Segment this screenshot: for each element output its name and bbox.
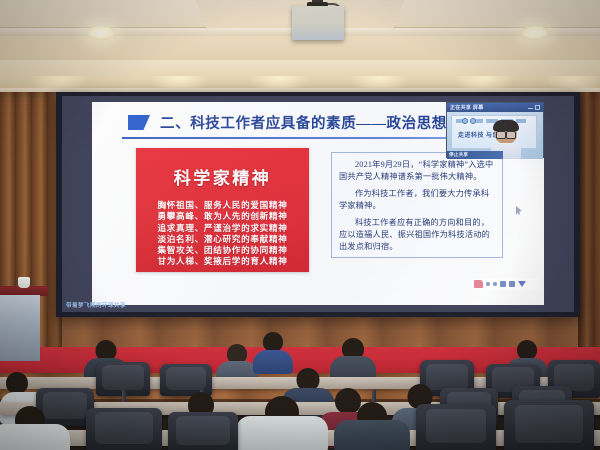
minimize-icon[interactable] [528,106,533,109]
poster-line: 淡泊名利、潜心研究的奉献精神 [136,234,309,245]
person-head [6,372,28,394]
person-torso [0,424,70,450]
ceiling-panel-right [393,0,600,28]
person-torso [236,416,328,450]
eraser-icon[interactable] [509,281,515,287]
chair [416,404,496,450]
presentation-slide: 二、科技工作者应具备的素质——政治思想素养 科学家精神 胸怀祖国、服务人民的爱国… [92,102,544,305]
video-conference-overlay[interactable]: 正在共享 屏幕 走进科技 与您同行 [446,102,544,158]
glasses-icon [496,131,516,137]
audience-person [330,338,376,382]
audience-person [0,406,70,450]
textbox-paragraph: 科技工作者应有正确的方向和目的，应以造福人民、振兴祖国作为科技活动的出发点和归宿… [339,217,495,252]
wood-panel-right [578,92,600,360]
projection-screen: 二、科技工作者应具备的素质——政治思想素养 科学家精神 胸怀祖国、服务人民的爱国… [62,96,574,312]
stop-share-label: 停止共享 [449,152,468,158]
poster-line-list: 胸怀祖国、服务人民的爱国精神 勇攀高峰、敢为人先的创新精神 追求真理、严谨治学的… [136,200,309,268]
window-controls[interactable] [528,105,540,110]
screen-watermark: 带着梦飞翔的环球共享 [66,301,126,309]
restore-icon[interactable] [535,105,540,110]
coffee-cup-icon [18,277,30,288]
video-overlay-titlebar[interactable]: 正在共享 屏幕 [447,103,543,112]
person-head [517,340,537,360]
lecture-hall-scene: 二、科技工作者应具备的素质——政治思想素养 科学家精神 胸怀祖国、服务人民的爱国… [0,0,600,450]
poster-line: 甘为人梯、奖掖后学的育人精神 [136,256,309,267]
presenter-hair [493,120,519,131]
share-status-bar[interactable]: 停止共享 [447,151,503,159]
annotation-toolbar[interactable] [472,278,540,290]
textbox-paragraph: 2021年9月29日，“科学家精神”入选中国共产党人精神谱系第一批伟大精神。 [339,159,495,182]
slide-heading-text: 二、科技工作者应具备的素质——政治思想素养 [160,112,477,133]
downlight-icon [520,26,550,40]
video-overlay-body: 走进科技 与您同行 停止共享 [447,112,543,159]
scientist-spirit-poster: 科学家精神 胸怀祖国、服务人民的爱国精神 勇攀高峰、敢为人先的创新精神 追求真理… [136,148,309,272]
ceiling-panel-left [0,0,207,28]
audience-area [0,330,600,450]
poster-line: 胸怀祖国、服务人民的爱国精神 [136,200,309,211]
dot-icon[interactable] [493,282,497,286]
mouse-cursor-icon [516,206,522,215]
person-torso [334,420,410,450]
marker-icon[interactable] [500,281,506,287]
chair [168,412,238,450]
poster-line: 集智攻关、团结协作的协同精神 [136,245,309,256]
textbox-paragraph: 作为科技工作者，我们要大力传承科学家精神。 [339,188,495,211]
audience-person [334,402,410,450]
slide-textbox: 2021年9月29日，“科学家精神”入选中国共产党人精神谱系第一批伟大精神。 作… [331,152,503,258]
chair [504,400,594,450]
poster-line: 勇攀高峰、敢为人先的创新精神 [136,211,309,222]
person-head [263,332,283,352]
audience-person [236,396,328,450]
downlight-icon [86,26,116,40]
poster-title: 科学家精神 [136,164,309,189]
poster-line: 追求真理、严谨治学的求实精神 [136,223,309,234]
chair [86,408,162,450]
ceiling [0,0,600,92]
triangle-accent-icon [128,115,150,130]
video-overlay-title: 正在共享 屏幕 [450,104,484,111]
stamp-icon[interactable] [474,280,483,288]
pointer-icon[interactable] [518,281,526,287]
ceiling-projector [292,6,344,40]
pen-icon[interactable] [486,282,490,286]
